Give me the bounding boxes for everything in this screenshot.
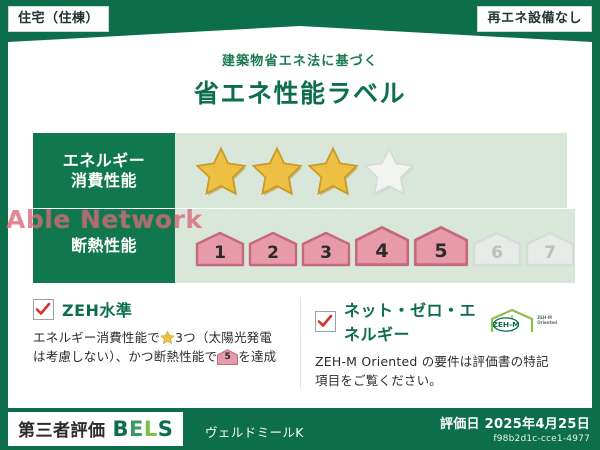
title-subtitle: 建築物省エネ法に基づく xyxy=(0,50,600,69)
row-energy-performance: エネルギー 消費性能 xyxy=(33,133,567,209)
zeh-m-house-icon: ZEH-M xyxy=(489,308,535,334)
building-name: ヴェルドミールK xyxy=(205,422,304,441)
star-filled-icon xyxy=(307,145,359,197)
insulation-level-value: 5 xyxy=(413,240,469,262)
row-label-energy-line1: エネルギー xyxy=(63,151,146,170)
insulation-level-value: 3 xyxy=(301,243,351,263)
document-id: f98b2d1c-cce1-4977 xyxy=(440,434,590,444)
net-zero-body-line1: ZEH-M Oriented の要件は評価書の特記 xyxy=(315,354,549,369)
page-title: 省エネ性能ラベル xyxy=(0,74,600,110)
label-title-group: 建築物省エネ法に基づく 省エネ性能ラベル xyxy=(0,50,600,110)
insulation-level-1: 1 xyxy=(195,231,245,267)
zeh-standard-body: エネルギー消費性能で 3つ（太陽光発電は考慮しない）、かつ断熱性能で 5 を達成 xyxy=(33,328,290,367)
footer-meta: 評価日 2025年4月25日 f98b2d1c-cce1-4977 xyxy=(440,413,590,444)
bels-letter-b: B xyxy=(113,417,130,441)
star-filled-icon xyxy=(195,145,247,197)
check-icon xyxy=(317,313,333,329)
tag-renewable-equipment: 再エネ設備なし xyxy=(477,6,592,32)
tag-building-type: 住宅（住棟） xyxy=(8,6,109,32)
row-insulation-performance: 断熱性能 1234567 xyxy=(33,209,567,283)
zeh-body-part4: を達成 xyxy=(238,349,276,364)
inline-star-icon xyxy=(160,330,175,345)
zeh-body-part1: エネルギー消費性能で xyxy=(33,330,160,345)
criteria-net-zero-energy: ネット・ゼロ・エネルギー ZEH-M ZEH-M Oriented ZEH-M … xyxy=(300,297,567,389)
criteria-zeh-standard: ZEH水準 エネルギー消費性能で 3つ（太陽光発電は考慮しない）、かつ断熱性能で… xyxy=(33,297,300,389)
evaluation-date: 評価日 2025年4月25日 xyxy=(440,413,590,432)
net-zero-body: ZEH-M Oriented の要件は評価書の特記 項目をご覧ください。 xyxy=(315,352,557,391)
energy-performance-label: 住宅（住棟） 再エネ設備なし 建築物省エネ法に基づく 省エネ性能ラベル エネルギ… xyxy=(0,0,600,450)
row-label-energy-line2: 消費性能 xyxy=(71,171,137,190)
insulation-level-5: 5 xyxy=(413,225,469,267)
check-icon xyxy=(35,301,51,317)
insulation-level-scale: 1234567 xyxy=(187,225,575,267)
inline-house-icon: 5 xyxy=(217,349,238,365)
net-zero-head: ネット・ゼロ・エネルギー ZEH-M ZEH-M Oriented xyxy=(315,297,557,345)
net-zero-body-line2: 項目をご覧ください。 xyxy=(315,373,442,388)
bels-letter-e: E xyxy=(129,417,144,441)
row-label-energy: エネルギー 消費性能 xyxy=(33,133,175,209)
zeh-m-logo: ZEH-M ZEH-M Oriented xyxy=(489,308,557,334)
row-label-insulation: 断熱性能 xyxy=(33,209,175,283)
checkbox-zeh-standard[interactable] xyxy=(33,299,54,320)
insulation-level-2: 2 xyxy=(248,231,298,267)
bels-certification-box: 第三者評価 BELS xyxy=(8,412,183,446)
insulation-level-value: 7 xyxy=(525,243,575,263)
label-footer: 第三者評価 BELS ヴェルドミールK 評価日 2025年4月25日 f98b2… xyxy=(0,408,600,450)
third-party-evaluation-label: 第三者評価 xyxy=(18,416,106,441)
zeh-m-sublabel: ZEH-M Oriented xyxy=(537,316,557,325)
zeh-m-badge-text: ZEH-M xyxy=(493,320,520,329)
star-rating xyxy=(187,145,415,197)
insulation-level-value: 4 xyxy=(354,240,410,262)
checkbox-net-zero-energy[interactable] xyxy=(315,311,336,332)
bels-logo: BELS xyxy=(113,417,174,441)
insulation-level-value: 1 xyxy=(195,243,245,263)
row-value-insulation: 1234567 xyxy=(175,209,575,283)
zeh-standard-head: ZEH水準 xyxy=(33,297,290,321)
zeh-body-part2: 3つ（太陽光発電 xyxy=(175,330,272,345)
zeh-body-part3: は考慮しない）、かつ断熱性能で xyxy=(33,349,217,364)
star-empty-icon xyxy=(363,145,415,197)
insulation-level-6: 6 xyxy=(472,231,522,267)
insulation-level-3: 3 xyxy=(301,231,351,267)
insulation-level-7: 7 xyxy=(525,231,575,267)
ratings-table: エネルギー 消費性能 断熱性能 1234567 xyxy=(33,133,567,283)
insulation-level-value: 6 xyxy=(472,243,522,263)
insulation-level-4: 4 xyxy=(354,225,410,267)
insulation-level-value: 2 xyxy=(248,243,298,263)
row-value-energy xyxy=(175,133,567,209)
star-filled-icon xyxy=(251,145,303,197)
zeh-m-sublabel-line2: Oriented xyxy=(537,320,557,325)
bels-letter-s: S xyxy=(158,417,174,441)
bels-letter-l: L xyxy=(144,417,158,441)
criteria-section: ZEH水準 エネルギー消費性能で 3つ（太陽光発電は考慮しない）、かつ断熱性能で… xyxy=(33,297,567,389)
inline-house-value: 5 xyxy=(217,351,238,365)
net-zero-title: ネット・ゼロ・エネルギー xyxy=(344,297,479,345)
zeh-standard-title: ZEH水準 xyxy=(62,297,132,321)
